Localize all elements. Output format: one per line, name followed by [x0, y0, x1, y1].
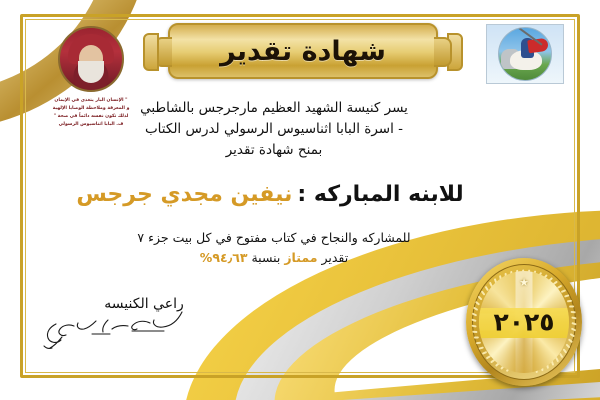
certificate-canvas: " الإنسان البار يتغذى في الإيمان و المعر… [0, 0, 600, 400]
body-line-2: - اسرة البابا اثناسيوس الرسولي لدرس الكت… [60, 119, 488, 140]
achievement-block: للمشاركه والنجاح في كتاب مفتوح في كل بيت… [60, 228, 488, 268]
signature-block: راعي الكنيسه [44, 296, 244, 352]
grade-word: ممتاز [284, 250, 317, 265]
portrait-beard [78, 61, 104, 83]
ribbon-notch-right [447, 33, 463, 71]
certificate-body: يسر كنيسة الشهيد العظيم مارجرجس بالشاطبي… [60, 98, 488, 161]
saint-george-icon [498, 27, 552, 81]
year-medal-seal: ★ ٢٠٢٥ [466, 258, 582, 386]
saint-george-icon-frame [486, 24, 564, 84]
certificate-title: شهادة تقدير [220, 36, 386, 67]
achievement-line: للمشاركه والنجاح في كتاب مفتوح في كل بيت… [60, 228, 488, 248]
star-icon: ★ [519, 276, 529, 289]
ribbon-notch-left [143, 33, 159, 71]
signature-strokes [32, 306, 247, 352]
body-line-1: يسر كنيسة الشهيد العظيم مارجرجس بالشاطبي [60, 98, 488, 119]
body-line-3: بمنح شهادة تقدير [60, 140, 488, 161]
recipient-label: للابنه المباركه : [297, 182, 463, 207]
title-ribbon: شهادة تقدير [168, 23, 438, 79]
grade-prefix: تقدير [321, 250, 348, 265]
recipient-name: نيفين مجدي جرجس [76, 182, 292, 207]
medal-face: ★ ٢٠٢٥ [479, 271, 569, 373]
grade-percent: ٩٤٫٦٣% [200, 250, 248, 265]
recipient-line: للابنه المباركه : نيفين مجدي جرجس [40, 182, 500, 207]
pope-athanasius-portrait-icon [58, 26, 124, 92]
handwritten-signature [44, 310, 244, 352]
grade-line: تقدير ممتاز بنسبة ٩٤٫٦٣% [60, 248, 488, 268]
grade-middle: بنسبة [251, 250, 280, 265]
medal-year: ٢٠٢٥ [479, 308, 569, 337]
